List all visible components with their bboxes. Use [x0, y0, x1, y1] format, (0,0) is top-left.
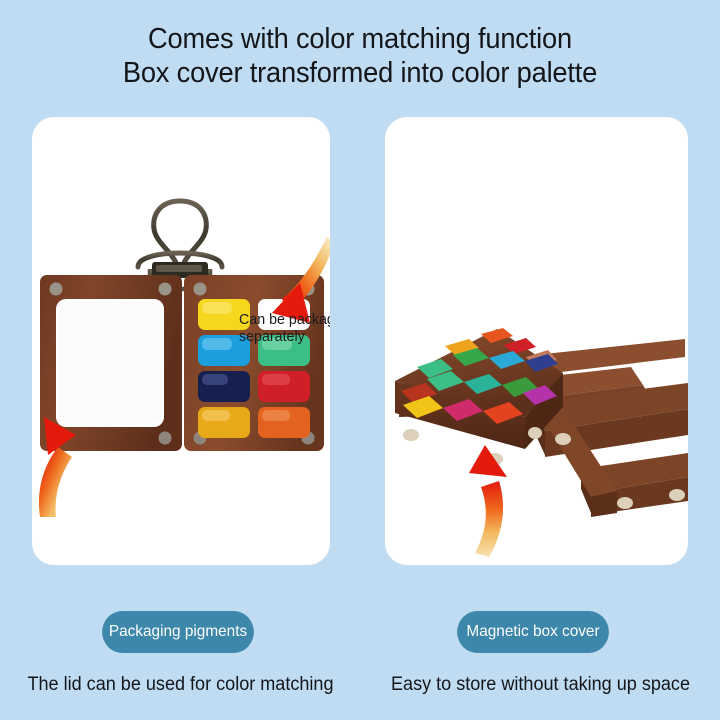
- caption-left: The lid can be used for color matching: [9, 674, 352, 696]
- pill-magnetic-box-cover-label: Magnetic box cover: [466, 623, 599, 641]
- left-product-card: Can be packaged separately Color palette: [32, 117, 330, 565]
- magnet-dot: [159, 432, 172, 445]
- magnet-dot: [194, 283, 207, 296]
- pill-packaging-pigments-label: Packaging pigments: [109, 623, 247, 641]
- page-title: Comes with color matching function Box c…: [0, 22, 720, 90]
- magnet-dot: [528, 427, 542, 439]
- box-left-half: [40, 275, 182, 451]
- magnet-dot: [555, 433, 571, 445]
- right-product-card: Magnetic suction cover: [385, 117, 688, 565]
- pill-packaging-pigments[interactable]: Packaging pigments: [102, 611, 254, 653]
- caption-right: Easy to store without taking up space: [370, 674, 711, 696]
- magnet-dot: [669, 489, 685, 501]
- paint-box-with-grid: [395, 328, 563, 465]
- title-line-2: Box cover transformed into color palette: [22, 56, 699, 90]
- magnet-dot: [159, 283, 172, 296]
- annotation-can-be-packaged-separately: Can be packaged separately: [239, 311, 330, 345]
- product-feature-image: Comes with color matching function Box c…: [0, 0, 720, 720]
- title-line-1: Comes with color matching function: [22, 22, 699, 56]
- magnet-dot: [403, 429, 419, 441]
- magnetic-box-cover-illustration: [385, 117, 688, 565]
- magnet-dot: [617, 497, 633, 509]
- magnet-dot: [50, 283, 63, 296]
- pill-magnetic-box-cover[interactable]: Magnetic box cover: [457, 611, 609, 653]
